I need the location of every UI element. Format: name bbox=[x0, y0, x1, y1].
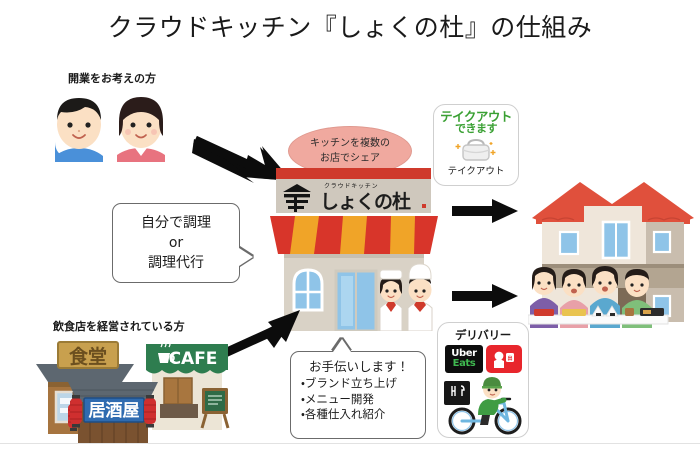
svg-text:出: 出 bbox=[507, 355, 512, 362]
cooking-choice-bubble: 自分で調理 or 調理代行 bbox=[112, 203, 240, 283]
sign-big-text: しょくの杜 bbox=[320, 187, 410, 214]
bento-icon bbox=[534, 309, 554, 316]
shoku-logo-icon bbox=[280, 183, 314, 213]
existing-restaurants: CAFE bbox=[18, 336, 238, 444]
uber-eats-logo: Uber Eats bbox=[445, 345, 483, 373]
svg-text:CAFE: CAFE bbox=[169, 349, 218, 369]
cafe-shop: CAFE bbox=[146, 341, 228, 430]
startup-caption: 開業をお考えの方 bbox=[68, 70, 156, 86]
svg-text:居酒屋: 居酒屋 bbox=[89, 400, 140, 421]
uber-eats-text-bottom: Eats bbox=[453, 359, 476, 369]
kitchen-share-line2: お店でシェア bbox=[320, 151, 380, 166]
shop-sign: クラウドキッチン しょくの杜 bbox=[276, 179, 431, 215]
diagram-canvas: クラウドキッチン『しょくの杜』の仕組み 開業をお考えの方 bbox=[0, 0, 700, 454]
sign-accent-mark bbox=[422, 204, 426, 208]
avatar-pair bbox=[45, 92, 175, 162]
drink-icon bbox=[625, 308, 634, 316]
arrow-kitchen-to-delivery-customers bbox=[452, 283, 520, 309]
bubble-tail bbox=[239, 248, 253, 266]
support-heading: お手伝いします！ bbox=[301, 358, 417, 375]
demae-mascot-icon: 出 bbox=[491, 349, 517, 369]
bottom-divider bbox=[0, 443, 700, 444]
support-bubble-tail bbox=[333, 339, 351, 352]
izakaya-shop: 居酒屋 bbox=[68, 382, 158, 444]
support-item-0: ・ブランド立ち上げ bbox=[301, 376, 417, 392]
cooking-choice-line3: 調理代行 bbox=[148, 253, 204, 273]
bicycle-courier bbox=[442, 373, 526, 435]
kitchen-share-line1: キッチンを複数の bbox=[310, 136, 390, 151]
male-avatar bbox=[55, 98, 103, 162]
cooking-choice-line1: 自分で調理 bbox=[141, 213, 211, 233]
male-chef bbox=[408, 264, 432, 331]
lantern-izakaya-right bbox=[144, 395, 156, 428]
delivery-card: デリバリー Uber Eats 出 bbox=[437, 322, 529, 438]
arched-window bbox=[294, 270, 322, 310]
support-item-2: ・各種仕入れ紹介 bbox=[301, 407, 417, 423]
takeout-badge-line2: できます bbox=[434, 123, 518, 135]
takeout-label: テイクアウト bbox=[434, 163, 518, 177]
takeout-bag-icon bbox=[454, 136, 498, 162]
cooking-choice-line2: or bbox=[169, 233, 183, 253]
restaurant-caption: 飲食店を経営されている方 bbox=[53, 318, 185, 334]
takeout-card: テイクアウト できます テイクアウト bbox=[433, 104, 519, 186]
delivery-heading: デリバリー bbox=[438, 327, 528, 343]
arrow-kitchen-to-takeout-customers bbox=[452, 198, 520, 224]
female-avatar bbox=[117, 97, 165, 162]
entrance-door bbox=[336, 271, 376, 331]
support-bubble: お手伝いします！ ・ブランド立ち上げ ・メニュー開発 ・各種仕入れ紹介 bbox=[290, 351, 426, 439]
customers-house bbox=[528, 176, 698, 328]
support-item-1: ・メニュー開発 bbox=[301, 392, 417, 408]
lantern-izakaya-left bbox=[70, 395, 82, 428]
demae-can-logo: 出 bbox=[486, 345, 522, 373]
lunchbox-icon bbox=[562, 309, 586, 316]
svg-text:食堂: 食堂 bbox=[69, 345, 107, 368]
page-title: クラウドキッチン『しょくの杜』の仕組み bbox=[0, 8, 700, 44]
